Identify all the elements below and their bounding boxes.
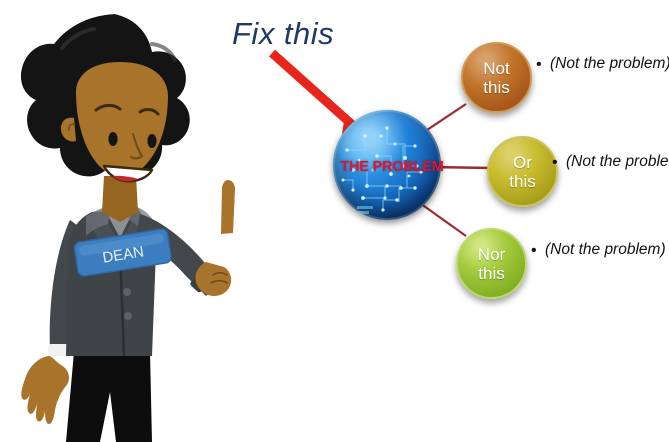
node-nor-this-line1: Nor [478, 245, 505, 264]
bullet-icon: • [552, 153, 558, 173]
node-not-this[interactable]: Not this [461, 42, 532, 113]
eye-right [147, 134, 156, 148]
node-or-this-line2: this [509, 172, 535, 191]
center-node-label: THE PROBLEM [332, 159, 452, 175]
left-hand [21, 356, 69, 424]
caption-not-this: • (Not the problem) [536, 54, 669, 74]
node-nor-this-line2: this [478, 264, 504, 283]
jacket-button [123, 288, 131, 296]
pants [66, 352, 152, 442]
caption-not-this-text: (Not the problem) [550, 54, 669, 74]
pointing-hand [195, 180, 235, 296]
page-title: Fix this [232, 16, 334, 52]
node-or-this[interactable]: Or this [487, 136, 558, 207]
node-nor-this[interactable]: Nor this [456, 228, 527, 299]
slide-canvas: DEAN Fix this [0, 0, 669, 442]
caption-or-this: • (Not the problem) [552, 152, 669, 172]
caption-or-this-text: (Not the problem) [566, 152, 669, 172]
dean-character-illustration: DEAN [0, 0, 240, 442]
node-not-this-line1: Not [483, 59, 509, 78]
caption-nor-this-text: (Not the problem) [545, 240, 666, 260]
jacket-button [124, 312, 132, 320]
node-or-this-line1: Or [513, 153, 532, 172]
bullet-icon: • [536, 55, 542, 75]
caption-nor-this: • (Not the problem) [531, 240, 666, 260]
bullet-icon: • [531, 241, 537, 261]
eye-left [108, 132, 117, 146]
node-not-this-line2: this [483, 78, 509, 97]
